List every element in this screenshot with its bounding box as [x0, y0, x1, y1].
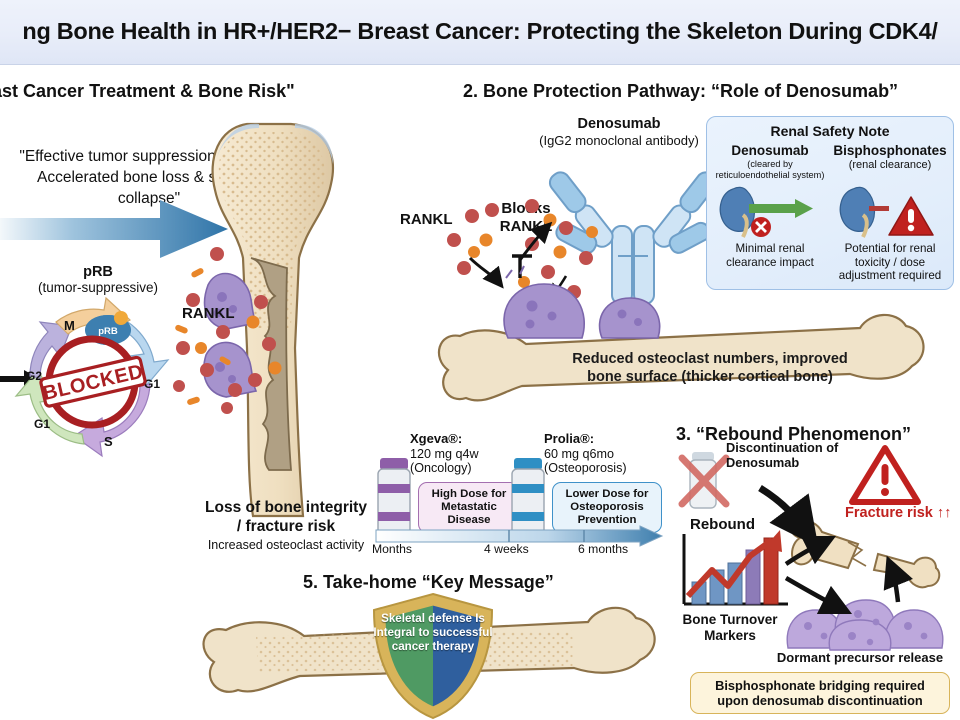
- section-5-heading: 5. Take-home “Key Message”: [303, 572, 554, 593]
- prolia-dose: 60 mg q6mo: [544, 447, 614, 461]
- renal-col-bisphosphonates: Bisphosphonates (renal clearance): [831, 143, 949, 171]
- segment-label-g1-left: G1: [34, 417, 50, 431]
- kidney-bisphosphonate-icon: [835, 183, 945, 241]
- renal-left-sub: (cleared by reticuloendothelial system): [711, 159, 829, 180]
- prolia-indication: (Osteoporosis): [544, 461, 627, 475]
- renal-left-title: Denosumab: [711, 143, 829, 158]
- renal-safety-heading: Renal Safety Note: [707, 123, 953, 139]
- kidney-denosumab-icon: [715, 183, 825, 241]
- timeline-label-months: Months: [372, 542, 412, 556]
- loss-of-integrity-group: Loss of bone integrity / fracture risk I…: [178, 498, 394, 552]
- segment-label-g1-right: G1: [144, 377, 160, 391]
- blocked-stamp: BLOCKED: [40, 339, 146, 425]
- xgeva-label: Xgeva®: 120 mg q4w (Oncology): [410, 432, 514, 476]
- prolia-label: Prolia®: 60 mg q6mo (Osteoporosis): [544, 432, 656, 476]
- bridging-line-2: upon denosumab discontinuation: [717, 693, 922, 708]
- section-1-heading: Breast Cancer Treatment & Bone Risk": [0, 81, 295, 102]
- prb-subtitle: (tumor-suppressive): [38, 280, 158, 295]
- renal-right-sub: (renal clearance): [831, 159, 949, 171]
- osteoclast: [600, 298, 660, 338]
- xgeva-dose: 120 mg q4w: [410, 447, 479, 461]
- shield-message-text: Skeletal defense Is Integral to successf…: [368, 612, 498, 654]
- cell-cycle-diagram: M G2 G1 S G1 pRB BLOCKED: [4, 298, 184, 458]
- discontinuation-label: Discontinuation of Denosumab: [726, 440, 846, 470]
- renal-safety-box: Renal Safety Note Denosumab (cleared by …: [706, 116, 954, 290]
- prb-node-label: pRB: [98, 326, 118, 337]
- dormant-precursor-label: Dormant precursor release: [760, 650, 960, 665]
- renal-right-bottom: Potential for renal toxicity / dose adju…: [831, 242, 949, 283]
- osteoclast-group-reduced: [490, 272, 680, 342]
- denosumab-title: Denosumab: [578, 116, 661, 132]
- bridging-line-1: Bisphosphonate bridging required: [715, 678, 925, 693]
- crossed-vial-icon: [676, 450, 732, 512]
- reduced-osteoclast-caption: Reduced osteoclast numbers, improved bon…: [560, 350, 860, 386]
- renal-left-bottom: Minimal renal clearance impact: [711, 242, 829, 269]
- loss-subtext: Increased osteoclast activity: [178, 538, 394, 552]
- section3-connector-arrows: [748, 480, 960, 650]
- prolia-name: Prolia®:: [544, 431, 594, 446]
- section-2-heading: 2. Bone Protection Pathway: “Role of Den…: [463, 81, 898, 102]
- denosumab-label-group: Denosumab (IgG2 monoclonal antibody): [524, 116, 714, 148]
- osteoclast: [504, 284, 584, 338]
- denosumab-subtitle: (IgG2 monoclonal antibody): [539, 133, 699, 148]
- renal-right-title: Bisphosphonates: [831, 143, 949, 158]
- rankl-particles-left: [165, 240, 305, 430]
- segment-label-m: M: [64, 318, 75, 333]
- loss-line-1: Loss of bone integrity: [205, 499, 367, 516]
- prb-label-group: pRB (tumor-suppressive): [8, 264, 188, 296]
- loss-line-2: / fracture risk: [237, 518, 335, 535]
- prb-title: pRB: [83, 264, 113, 280]
- page-title: ng Bone Health in HR+/HER2− Breast Cance…: [22, 18, 937, 45]
- renal-col-denosumab: Denosumab (cleared by reticuloendothelia…: [711, 143, 829, 180]
- timeline-label-4weeks: 4 weeks: [484, 542, 529, 556]
- dosing-timeline-block: Xgeva®: 120 mg q4w (Oncology) High Dose …: [372, 430, 664, 562]
- segment-label-s: S: [104, 434, 113, 449]
- xgeva-indication: (Oncology): [410, 461, 472, 475]
- title-banner: ng Bone Health in HR+/HER2− Breast Cance…: [0, 0, 960, 65]
- bisphosphonate-bridging-box: Bisphosphonate bridging required upon de…: [690, 672, 950, 714]
- infographic-canvas: ng Bone Health in HR+/HER2− Breast Cance…: [0, 0, 960, 720]
- xgeva-name: Xgeva®:: [410, 431, 462, 446]
- rankl-label-section1: RANKL: [182, 305, 235, 322]
- reduced-line-1: Reduced osteoclast numbers, improved: [572, 351, 848, 367]
- timeline-label-6months: 6 months: [578, 542, 628, 556]
- reduced-line-2: bone surface (thicker cortical bone): [587, 369, 833, 385]
